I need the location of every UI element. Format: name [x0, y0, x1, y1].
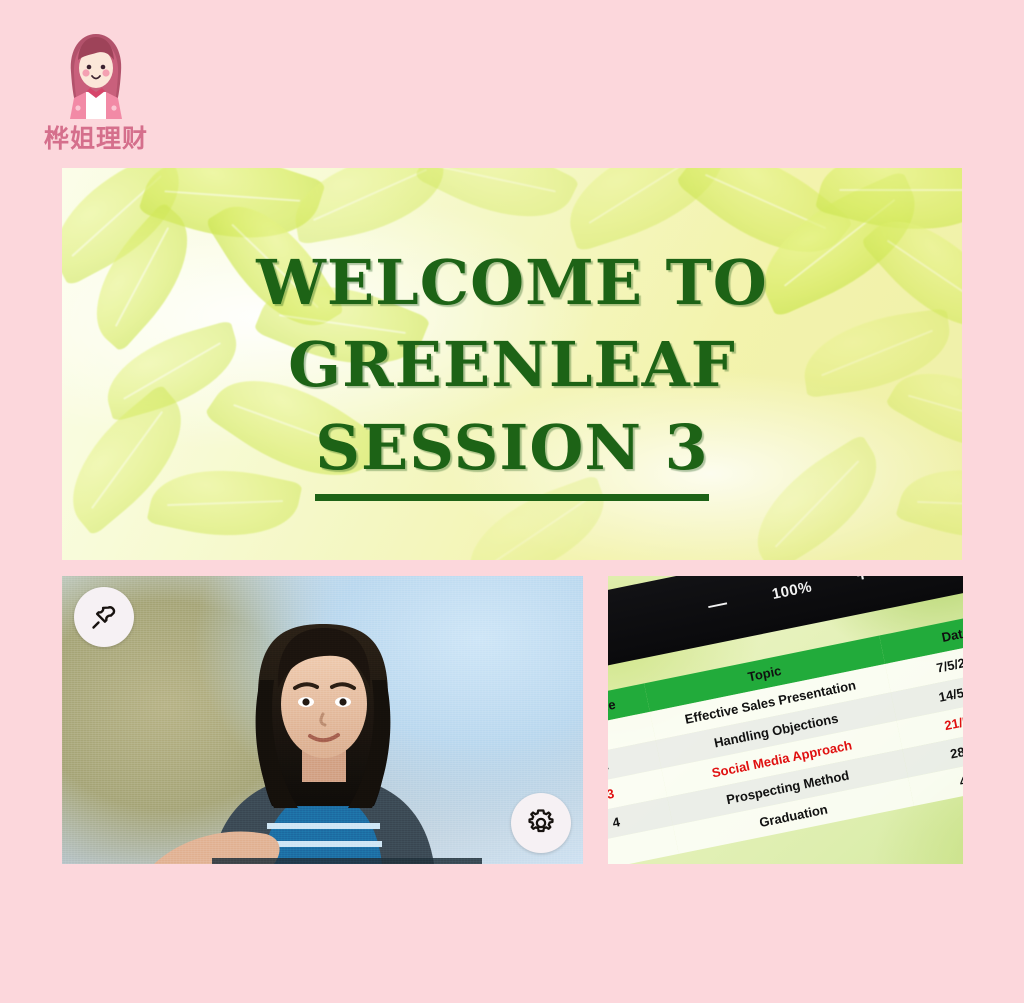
video-grain-overlay — [62, 576, 583, 864]
banner-line-1: WELCOME TO — [62, 242, 962, 324]
girl-avatar-icon — [56, 24, 136, 124]
pushpin-glyph — [89, 602, 119, 632]
pushpin-icon[interactable] — [74, 587, 134, 647]
schedule-photo-tile[interactable]: Schedule Module Topic Date 1Effective Sa… — [608, 576, 963, 864]
gear-glyph — [525, 807, 557, 839]
page-root: 桦姐理财 WELCOME TO — [0, 0, 1024, 1003]
zoom-in-button[interactable]: + — [855, 576, 870, 588]
banner-line-2: GREENLEAF — [62, 324, 962, 406]
banner-text: WELCOME TO GREENLEAF SESSION 3 — [62, 242, 962, 501]
brand-block: 桦姐理财 — [40, 24, 152, 151]
gear-icon[interactable] — [511, 793, 571, 853]
zoom-out-button[interactable]: — — [706, 593, 729, 618]
video-participant-tile[interactable] — [62, 576, 583, 864]
welcome-banner: WELCOME TO GREENLEAF SESSION 3 — [62, 168, 962, 560]
banner-line-3: SESSION 3 — [315, 407, 709, 501]
zoom-percentage: 100% — [770, 578, 813, 603]
brand-name: 桦姐理财 — [40, 126, 152, 151]
